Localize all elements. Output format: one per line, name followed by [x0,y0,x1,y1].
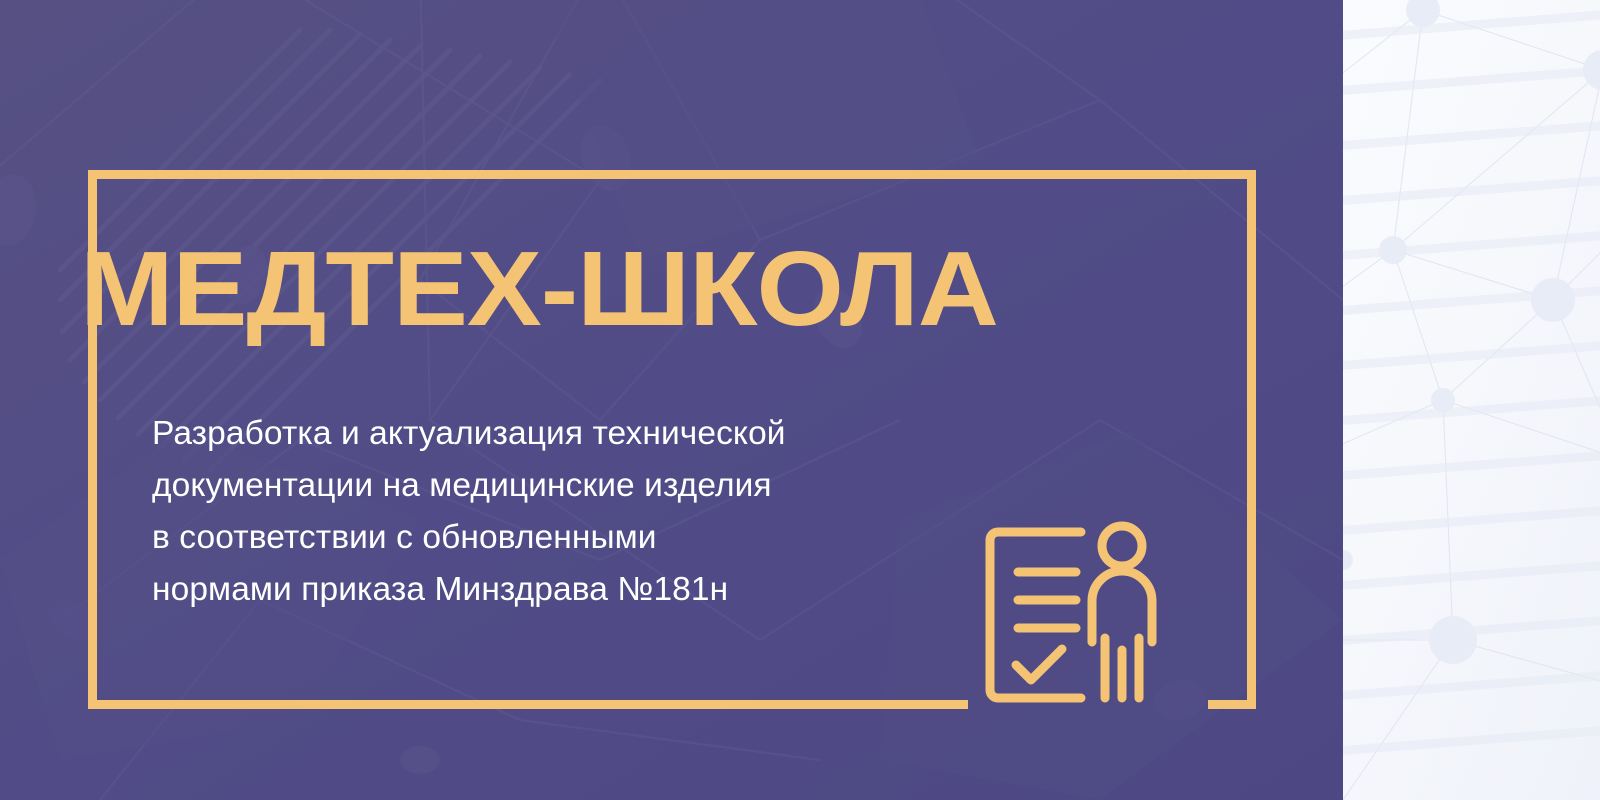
page-title: МЕДТЕХ-ШКОЛА [80,236,998,342]
person-icon [1092,526,1152,698]
main-purple-panel: МЕДТЕХ-ШКОЛА Разработка и актуализация т… [0,0,1343,800]
frame-bottom-edge-right [1208,700,1256,709]
subtitle-line-1: Разработка и актуализация технической [152,408,982,460]
subtitle-line-4: нормами приказа Минздрава №181н [152,564,982,616]
frame-bottom-edge-left [88,700,968,709]
banner-subtitle: Разработка и актуализация технической до… [152,408,982,616]
document-checklist-person-icon [978,520,1188,710]
subtitle-line-3: в соответствии с обновленными [152,512,982,564]
frame-right-edge [1247,170,1256,709]
frame-top-edge [88,170,1256,179]
right-panel-background-pattern [1343,0,1600,800]
right-logo-panel: ФБГНУ «Национальный НИИ общественного зд… [1343,0,1600,800]
subtitle-line-2: документации на медицинские изделия [152,460,982,512]
banner-slide: ФБГНУ «Национальный НИИ общественного зд… [0,0,1600,800]
